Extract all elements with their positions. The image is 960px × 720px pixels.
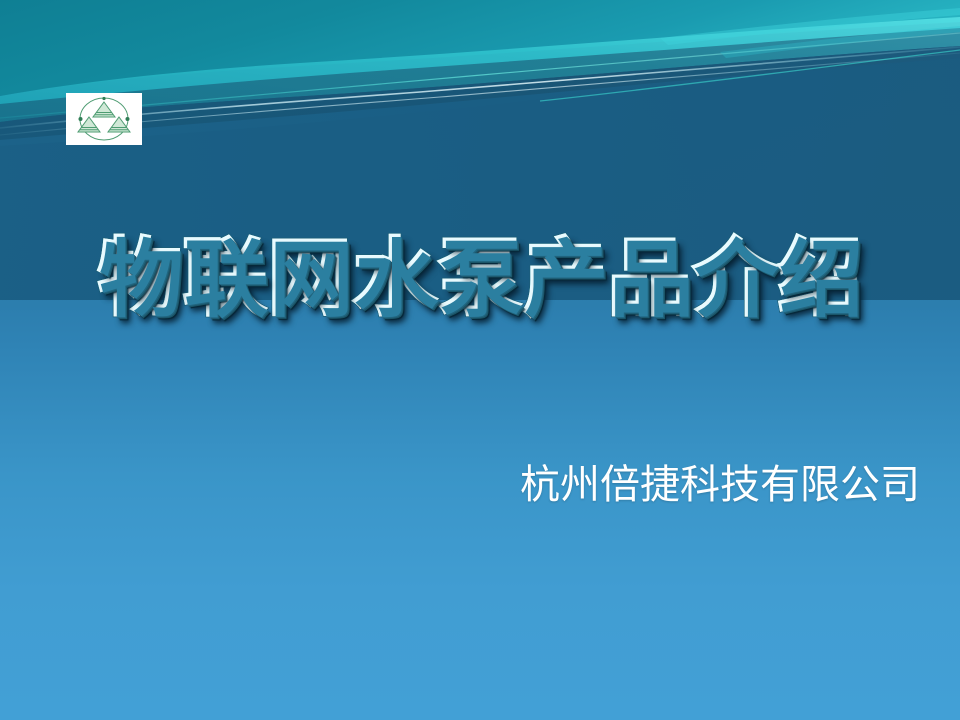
wave-hairline-1	[0, 47, 960, 128]
slide-title: 物联网水泵产品介绍	[0, 228, 960, 328]
company-logo	[66, 93, 142, 145]
wave-band-dark-secondary	[0, 28, 960, 140]
wave-sliver-right-1	[660, 8, 960, 45]
three-pyramids-in-circle-icon	[66, 93, 142, 145]
wave-sliver-right-2	[720, 26, 960, 58]
slide-title-text: 物联网水泵产品介绍	[97, 228, 862, 328]
wave-hairline-3	[0, 33, 960, 118]
presentation-slide: 物联网水泵产品介绍 物联网水泵产品介绍 杭州倍捷科技有限公司	[0, 0, 960, 720]
wave-band-teal-upper	[0, 0, 960, 96]
slide-subtitle: 杭州倍捷科技有限公司	[520, 460, 900, 510]
wave-hairline-2	[0, 53, 960, 135]
wave-hairline-accent	[540, 50, 960, 101]
wave-ribbon-bright-teal	[0, 17, 960, 122]
